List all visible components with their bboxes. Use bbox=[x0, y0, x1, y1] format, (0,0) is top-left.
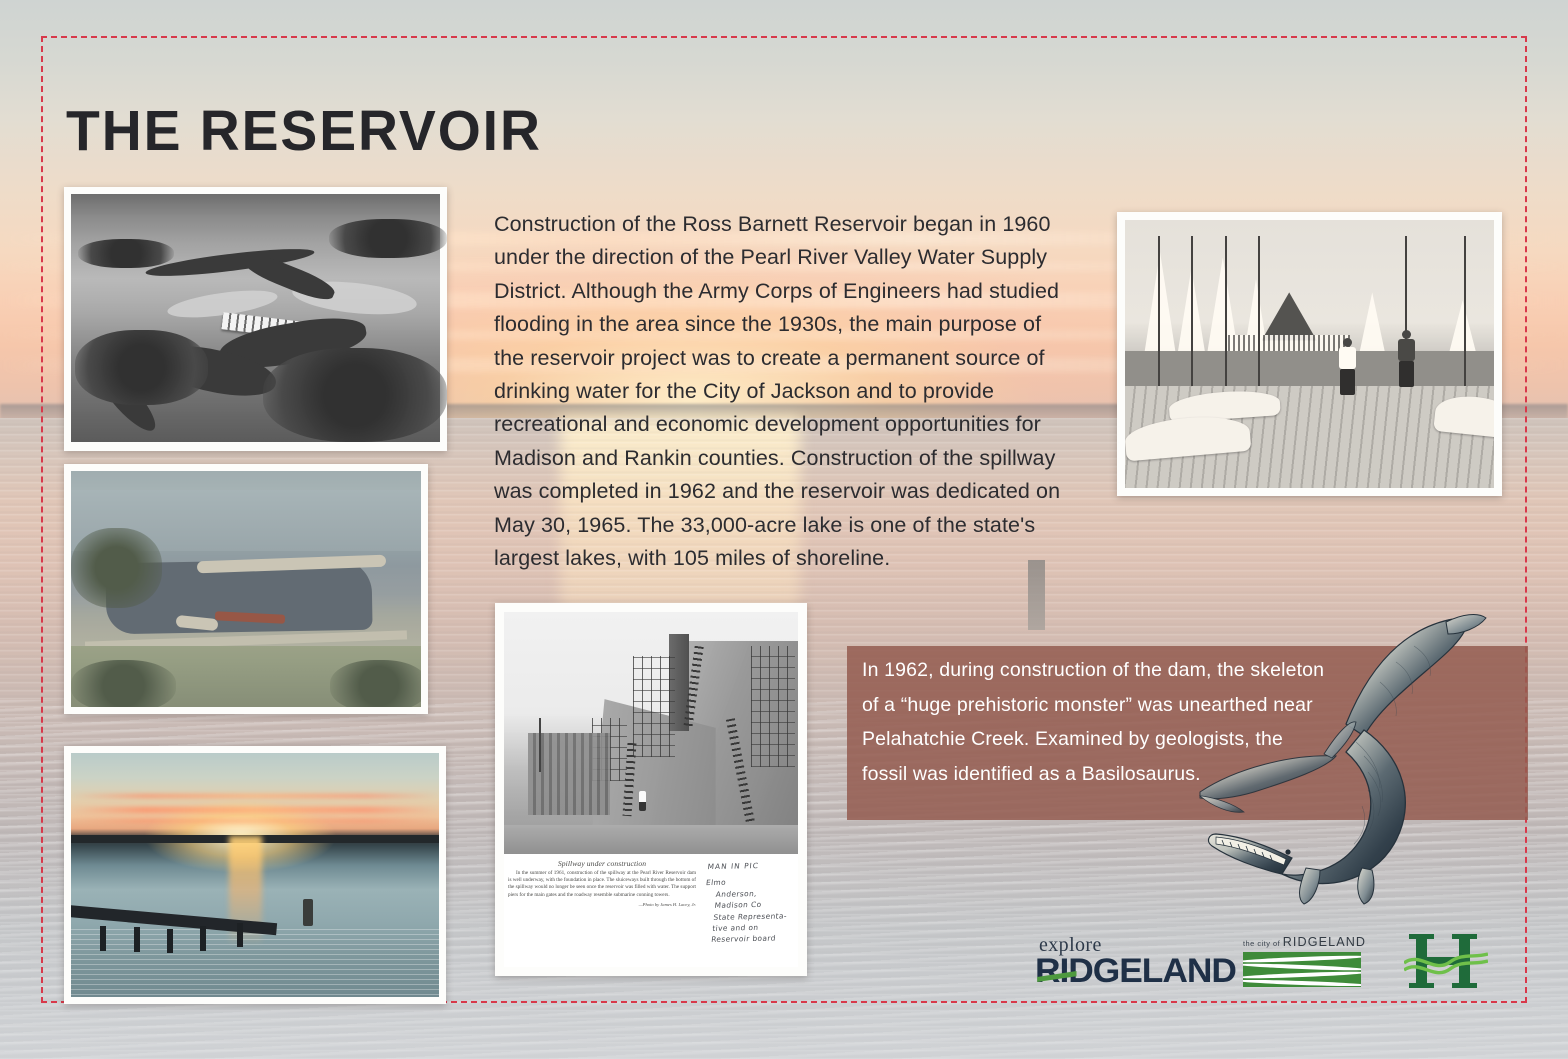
logo-city-of-ridgeland: the city of RIDGELAND bbox=[1243, 935, 1363, 990]
basilosaurus-tail bbox=[1346, 619, 1465, 736]
mast bbox=[1464, 236, 1466, 402]
aerial-marina-image bbox=[71, 471, 421, 707]
tree-mass bbox=[71, 660, 176, 707]
tree-mass bbox=[330, 660, 421, 707]
lone-post bbox=[303, 899, 313, 926]
sailing-regatta-image bbox=[1125, 220, 1494, 488]
pier-piling bbox=[200, 926, 206, 950]
tail-fluke bbox=[1446, 615, 1486, 634]
tree-mass bbox=[329, 219, 447, 259]
a-frame-clubhouse bbox=[1262, 292, 1317, 340]
aerial-dam-image bbox=[71, 194, 440, 442]
photo-sailing-regatta bbox=[1117, 212, 1502, 496]
mast bbox=[1158, 236, 1160, 402]
tree-mass bbox=[78, 239, 174, 269]
caption-title: Spillway under construction bbox=[508, 859, 696, 868]
spillway-construction-image bbox=[504, 612, 798, 854]
logo-h-monogram bbox=[1404, 930, 1488, 992]
wave-line bbox=[1243, 979, 1361, 987]
city-name: RIDGELAND bbox=[1283, 935, 1366, 949]
photo-spillway-construction: Spillway under construction In the summe… bbox=[495, 603, 807, 976]
sunset-pier-image bbox=[71, 753, 439, 997]
note-line: Reservoir board bbox=[700, 932, 807, 946]
crowd-of-spectators bbox=[1225, 335, 1350, 351]
water-shimmer bbox=[71, 929, 439, 997]
mast bbox=[1258, 236, 1260, 402]
handwritten-note: MAN IN PIC Elmo Anderson, Madison Co Sta… bbox=[700, 859, 807, 946]
sunset-cloud bbox=[71, 794, 439, 798]
wave-line bbox=[1243, 954, 1361, 963]
wave-line bbox=[1243, 962, 1361, 971]
pier-piling bbox=[237, 923, 243, 947]
scaffolding bbox=[751, 646, 795, 767]
spillway-caption: Spillway under construction In the summe… bbox=[508, 859, 696, 907]
construction-worker bbox=[639, 791, 646, 811]
person-walking bbox=[1339, 338, 1356, 395]
sunset-cloud bbox=[71, 807, 439, 813]
tree-mass bbox=[75, 330, 208, 404]
page-title: THE RESERVOIR bbox=[66, 98, 542, 164]
ridgeland-wordmark: RIDGELAND bbox=[1035, 955, 1233, 988]
ridgeland-text: RIDGELAND bbox=[1035, 952, 1236, 990]
mast bbox=[1191, 236, 1193, 402]
caption-credit: —Photo by James H. Lacey, Jr. bbox=[508, 902, 696, 907]
mast bbox=[1225, 236, 1227, 402]
interpretive-panel: THE RESERVOIR Construction of the Ross B… bbox=[0, 0, 1568, 1059]
photo-aerial-dam bbox=[64, 187, 447, 451]
photo-aerial-marina bbox=[64, 464, 428, 714]
basilosaurus-illustration bbox=[1196, 606, 1516, 906]
sunset-cloud bbox=[71, 819, 439, 823]
city-wave-emblem bbox=[1243, 952, 1361, 987]
person-walking bbox=[1398, 330, 1415, 387]
pier-piling bbox=[134, 927, 140, 951]
front-flipper bbox=[1300, 868, 1320, 904]
shoreline-ground bbox=[1125, 351, 1494, 386]
body-paragraph: Construction of the Ross Barnett Reservo… bbox=[494, 208, 1064, 575]
scaffolding bbox=[633, 656, 674, 758]
city-of-tagline: the city of RIDGELAND bbox=[1243, 935, 1363, 949]
crane-boom bbox=[539, 718, 541, 771]
rear-flipper bbox=[1358, 868, 1374, 904]
caption-body: In the summer of 1961, construction of t… bbox=[508, 870, 696, 899]
basilosaurus-eye bbox=[1285, 849, 1290, 854]
photo-sunset-pier bbox=[64, 746, 446, 1004]
city-prefix: the city of bbox=[1243, 939, 1280, 948]
logo-explore-ridgeland: explore RIDGELAND bbox=[1035, 936, 1225, 988]
tree-mass bbox=[263, 348, 447, 442]
pier-piling bbox=[100, 926, 106, 950]
basilosaurus-secondary bbox=[1200, 756, 1336, 799]
note-heading: MAN IN PIC bbox=[707, 859, 807, 873]
tree-mass bbox=[71, 528, 162, 608]
construction-ground bbox=[504, 825, 798, 854]
pier-piling bbox=[167, 929, 173, 953]
basilosaurus-body bbox=[1282, 730, 1405, 884]
wave-line bbox=[1243, 970, 1361, 979]
